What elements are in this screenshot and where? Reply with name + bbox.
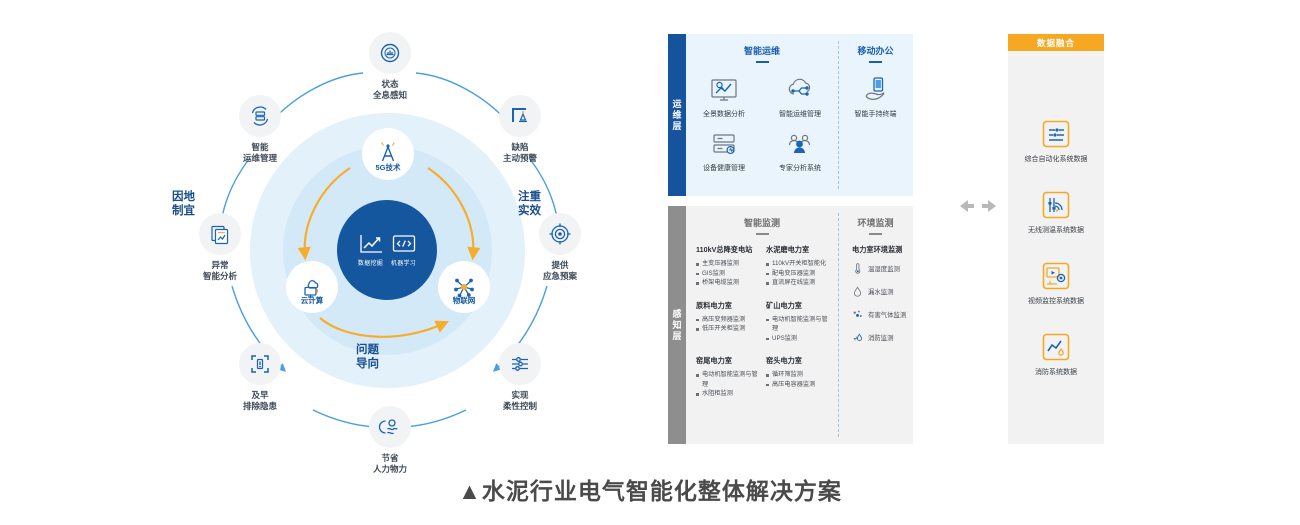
fire-system-icon [1041,332,1071,362]
inner-node-5g[interactable]: 5G技术 [362,128,414,180]
om-mobile-column: 移动办公 [838,34,913,196]
om-management-bubble [239,95,281,137]
harmful-gas-icon [852,309,863,320]
status-sensing-bubble [369,32,411,74]
tile-panorama-data[interactable]: 全景数据分析 [693,75,755,119]
sense-layer-tab-label: 感知层 [671,309,684,342]
emergency-plan-icon [548,222,572,246]
sense-group: 窑头电力室 循环筛监测 高压电容器监测 [766,356,830,399]
om-smart-title: 智能运维 [744,46,780,56]
group-head: 水泥磨电力室 [766,245,830,255]
sense-environment-column: 环境监测 电力室环境监测 温湿度监测 [838,206,913,444]
tile-handheld-terminal-label: 智能手持终端 [855,110,897,119]
sense-monitoring-title-wrap: 智能监测 [692,206,832,235]
outer-node-status-sensing[interactable]: 状态 全息感知 [338,32,442,101]
emergency-plan-bubble [539,213,581,255]
sense-group: 水泥磨电力室 110kV开关柜智能化 配电变压器监测 直流屏在线监测 [766,245,830,288]
group-head: 110kV总降变电站 [696,245,760,255]
automation-data-icon [1041,119,1071,149]
group-list: 电动机智能监测与管理 UPS监测 [766,315,830,344]
list-item: 桥架电缆监测 [696,278,760,288]
flexible-control-label: 实现 柔性控制 [503,390,537,412]
device-health-icon-wrap [709,129,739,159]
om-layer-tab-label: 运维层 [671,99,684,132]
list-item: 高压电容器监测 [766,380,830,390]
early-removal-bubble [239,343,281,385]
inner-node-cloud[interactable]: 云计算 [286,261,338,313]
tile-panorama-data-label: 全景数据分析 [703,110,745,119]
anomaly-analysis-label: 异常 智能分析 [203,260,237,282]
sense-layer-tab: 感知层 [668,206,686,444]
inner-node-iot[interactable]: 物联网 [438,261,490,313]
list-item: 主变压器监测 [696,259,760,269]
expert-system-icon-wrap [785,129,815,159]
panorama-data-icon-wrap [709,75,739,105]
tile-handheld-terminal[interactable]: 智能手持终端 [845,75,907,119]
outer-node-anomaly-analysis[interactable]: 异常 智能分析 [168,213,272,282]
list-item: 高压变频器监测 [696,315,760,325]
handheld-terminal-icon [861,76,891,104]
circular-architecture-diagram: 数据挖掘 机器学习 5G技术 [150,18,630,458]
om-mobile-title-wrap: 移动办公 [838,34,913,63]
early-removal-icon [248,352,272,376]
inner-node-5g-label: 5G技术 [375,162,400,173]
group-head: 原料电力室 [696,301,760,311]
group-list: 循环筛监测 高压电容器监测 [766,370,830,389]
env-item-label: 漏水监测 [868,287,894,296]
water-leak-icon [852,286,863,297]
list-item: 电动机智能监测与管理 [696,370,760,389]
anomaly-analysis-icon [208,222,232,246]
tile-smart-om[interactable]: 智能运维管理 [769,75,831,119]
inner-node-iot-label: 物联网 [453,295,476,306]
tile-device-health-label: 设备健康管理 [703,164,745,173]
fusion-tile-label: 综合自动化系统数据 [1025,155,1088,164]
env-item-water-leak: 漏水监测 [852,286,907,297]
sense-env-title-wrap: 环境监测 [844,206,907,235]
env-list: 温湿度监测 漏水监测 [844,263,907,343]
outer-node-emergency-plan[interactable]: 提供 应急预案 [508,213,612,282]
env-item-fire-safety: 消防监测 [852,332,907,343]
defect-warning-icon [508,104,532,128]
sense-group: 110kV总降变电站 主变压器监测 GIS监测 桥架电缆监测 [696,245,760,288]
bidirectional-arrow [958,198,998,220]
list-item: UPS监测 [766,334,830,344]
tile-smart-om-label: 智能运维管理 [779,110,821,119]
early-removal-label: 及早 排除隐患 [243,390,277,412]
sense-group-grid: 110kV总降变电站 主变压器监测 GIS监测 桥架电缆监测 水泥磨电力室 11… [692,235,832,399]
group-head: 矿山电力室 [766,301,830,311]
video-surveillance-icon [1041,261,1071,291]
om-smart-tiles: 全景数据分析 [686,63,838,173]
thermometer-icon [852,263,863,274]
core-item-machine-learning: 机器学习 [391,233,417,267]
bidirectional-arrow-icon [958,198,998,220]
data-mining-icon [358,233,384,255]
sense-env-title: 环境监测 [857,218,893,228]
layered-solution-panels: 运维层 智能运维 [668,34,1120,444]
list-item: GIS监测 [696,269,760,279]
env-item-harmful-gas: 有害气体监测 [852,309,907,320]
outer-node-save-manpower[interactable]: 节省 人力物力 [338,406,442,475]
fusion-tile-wireless-temp[interactable]: 无线测温系统数据 [1012,190,1100,235]
env-item-temp-humidity: 温湿度监测 [852,263,907,274]
sense-divider [838,213,839,437]
solution-diagram-page: 数据挖掘 机器学习 5G技术 [0,0,1300,525]
outer-node-om-management[interactable]: 智能 运维管理 [208,95,312,164]
group-list: 110kV开关柜智能化 配电变压器监测 直流屏在线监测 [766,259,830,288]
phrase-effectiveness: 注重 实效 [518,190,541,218]
env-head: 电力室环境监测 [844,235,907,255]
fusion-tile-fire-system[interactable]: 消防系统数据 [1012,332,1100,377]
machine-learning-icon [391,233,417,255]
sense-layer: 感知层 智能监测 110kV总降变电站 主变压器监测 GIS监测 [668,206,913,444]
fire-safety-icon [852,332,863,343]
save-manpower-bubble [369,406,411,448]
group-list: 主变压器监测 GIS监测 桥架电缆监测 [696,259,760,288]
outer-node-defect-warning[interactable]: 缺陷 主动预警 [468,95,572,164]
list-item: 直流屏在线监测 [766,278,830,288]
list-item: 电动机智能监测与管理 [766,315,830,334]
group-head: 窑头电力室 [766,356,830,366]
list-item: 低压开关柜监测 [696,324,760,334]
om-layer-tab: 运维层 [668,34,686,196]
device-health-icon [709,131,739,157]
core-capability-circle: 数据挖掘 机器学习 [337,200,437,300]
sense-layer-body: 智能监测 110kV总降变电站 主变压器监测 GIS监测 桥架电缆监测 [686,206,913,444]
om-smart-title-wrap: 智能运维 [686,34,838,63]
env-item-label: 消防监测 [868,333,894,342]
group-list: 电动机智能监测与管理 水阻柜监测 [696,370,760,399]
data-fusion-panel: 数据融合 综合自动化系统数据 [1008,34,1104,444]
om-layer: 运维层 智能运维 [668,34,913,196]
smart-om-icon-wrap [785,75,815,105]
fusion-tile-label: 无线测温系统数据 [1028,226,1084,235]
sense-group: 矿山电力室 电动机智能监测与管理 UPS监测 [766,301,830,344]
sense-monitoring-column: 智能监测 110kV总降变电站 主变压器监测 GIS监测 桥架电缆监测 [686,206,838,444]
env-item-label: 温湿度监测 [868,264,900,273]
panorama-data-icon [709,77,739,103]
tile-expert-system[interactable]: 专家分析系统 [769,129,831,173]
tile-expert-system-label: 专家分析系统 [779,164,821,173]
om-smart-column: 智能运维 [686,34,838,196]
save-manpower-icon [378,415,402,439]
expert-system-icon [785,131,815,157]
anomaly-analysis-bubble [199,213,241,255]
core-label-data-mining: 数据挖掘 [358,258,383,267]
phrase-local-conditions: 因地 制宜 [172,190,195,218]
list-item: 循环筛监测 [766,370,830,380]
sense-monitoring-title: 智能监测 [744,218,780,228]
wireless-temp-icon [1041,190,1071,220]
tile-device-health[interactable]: 设备健康管理 [693,129,755,173]
data-fusion-body: 综合自动化系统数据 无线测温系统数据 [1008,51,1104,444]
om-management-icon [248,104,272,128]
fusion-tile-automation-data[interactable]: 综合自动化系统数据 [1012,119,1100,164]
outer-node-flexible-control[interactable]: 实现 柔性控制 [468,343,572,412]
env-item-label: 有害气体监测 [868,310,906,319]
om-layer-body: 智能运维 [686,34,913,196]
flexible-control-icon [508,352,532,376]
page-caption: ▲水泥行业电气智能化整体解决方案 [0,472,1300,506]
list-item: 配电变压器监测 [766,269,830,279]
core-label-machine-learning: 机器学习 [391,258,416,267]
sense-group: 窑尾电力室 电动机智能监测与管理 水阻柜监测 [696,356,760,399]
status-sensing-label: 状态 全息感知 [373,79,407,101]
list-item: 110kV开关柜智能化 [766,259,830,269]
om-mobile-tiles: 智能手持终端 [838,63,913,119]
outer-node-early-removal[interactable]: 及早 排除隐患 [208,343,312,412]
handheld-terminal-icon-wrap [861,75,891,105]
group-head: 窑尾电力室 [696,356,760,366]
data-fusion-title: 数据融合 [1008,34,1104,51]
fusion-tile-label: 消防系统数据 [1035,368,1077,377]
om-mobile-title: 移动办公 [857,46,893,56]
om-divider [838,41,839,189]
list-item: 水阻柜监测 [696,389,760,399]
defect-warning-bubble [499,95,541,137]
group-list: 高压变频器监测 低压开关柜监测 [696,315,760,334]
sense-group: 原料电力室 高压变频器监测 低压开关柜监测 [696,301,760,344]
defect-warning-label: 缺陷 主动预警 [503,142,537,164]
smart-om-icon [785,77,815,103]
fusion-tile-video-surveillance[interactable]: 视频监控系统数据 [1012,261,1100,306]
om-management-label: 智能 运维管理 [243,142,277,164]
phrase-problem-oriented: 问题 导向 [356,343,379,371]
inner-node-cloud-label: 云计算 [301,295,324,306]
flexible-control-bubble [499,343,541,385]
fusion-tile-label: 视频监控系统数据 [1028,297,1084,306]
status-sensing-icon [378,41,402,65]
emergency-plan-label: 提供 应急预案 [543,260,577,282]
core-item-data-mining: 数据挖掘 [358,233,384,267]
